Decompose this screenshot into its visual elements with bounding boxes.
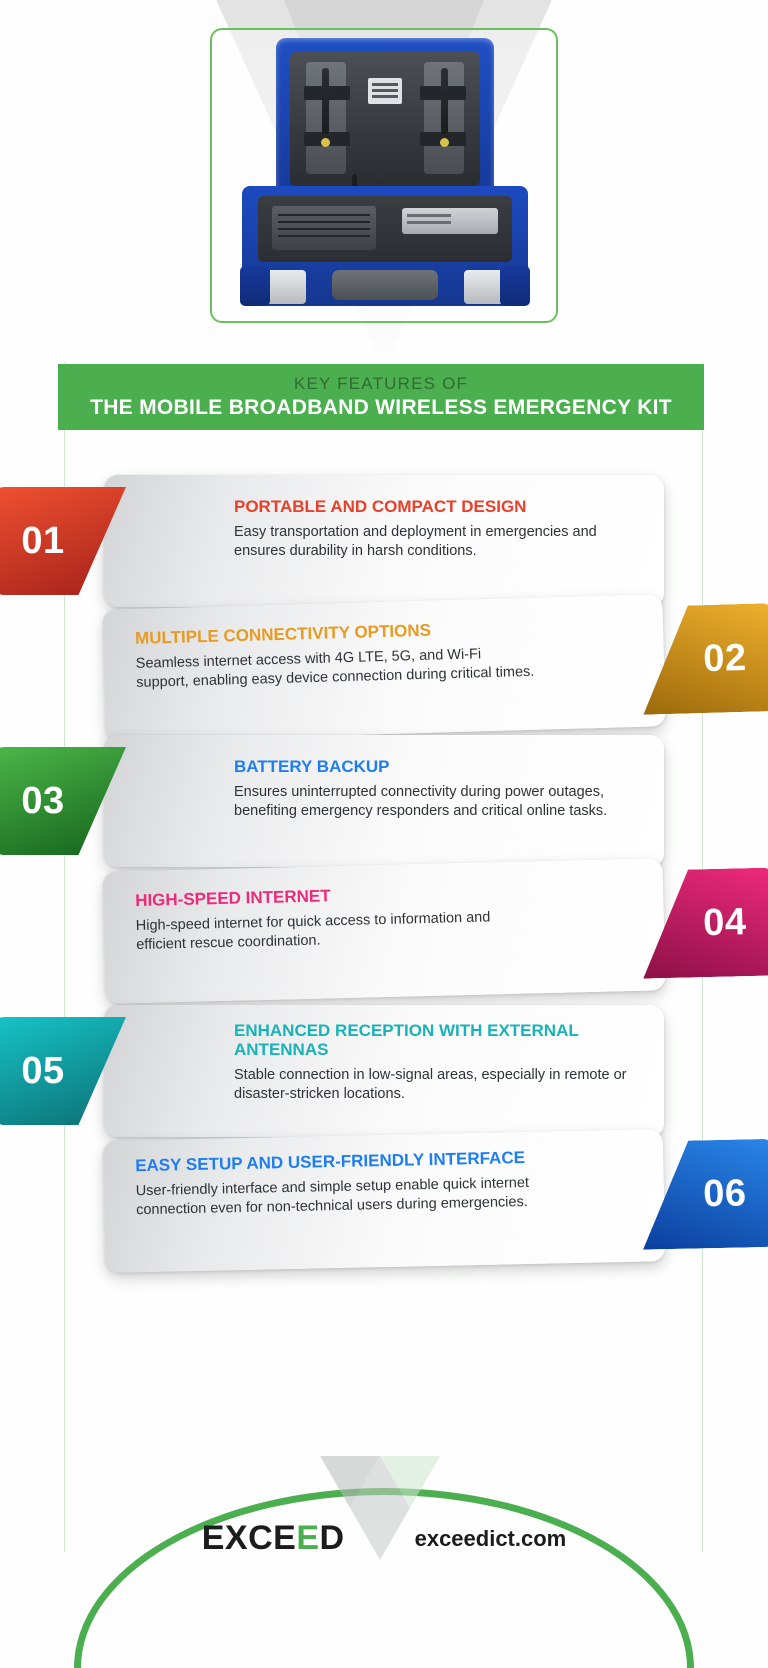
feature-title: PORTABLE AND COMPACT DESIGN bbox=[234, 497, 634, 516]
header-kicker: KEY FEATURES OF bbox=[294, 374, 468, 394]
header-banner: KEY FEATURES OF THE MOBILE BROADBAND WIR… bbox=[58, 364, 704, 430]
card-text: PORTABLE AND COMPACT DESIGN Easy transpo… bbox=[234, 497, 634, 561]
antenna-right bbox=[441, 68, 448, 134]
case-label-plate bbox=[368, 78, 402, 104]
feature-list: 01 PORTABLE AND COMPACT DESIGN Easy tran… bbox=[0, 430, 768, 1360]
case-body bbox=[242, 186, 528, 306]
card-text: BATTERY BACKUP Ensures uninterrupted con… bbox=[234, 757, 634, 821]
hero-product-image bbox=[210, 28, 558, 323]
case-lid-interior bbox=[290, 52, 480, 186]
feature-card-05[interactable]: 05 ENHANCED RECEPTION WITH EXTERNAL ANTE… bbox=[104, 1005, 664, 1137]
feature-card-01[interactable]: 01 PORTABLE AND COMPACT DESIGN Easy tran… bbox=[104, 475, 664, 607]
case-corner-left bbox=[240, 266, 270, 306]
equipment-case-illustration bbox=[224, 36, 544, 316]
page-title: THE MOBILE BROADBAND WIRELESS EMERGENCY … bbox=[90, 396, 672, 420]
x-watermark-icon bbox=[320, 1456, 440, 1576]
card-text: HIGH-SPEED INTERNET High-speed internet … bbox=[135, 881, 536, 955]
footer: EXCEED exceedict.com bbox=[0, 1368, 768, 1668]
logo-part-main: EXCE bbox=[202, 1519, 297, 1557]
feature-body: Ensures uninterrupted connectivity durin… bbox=[234, 783, 634, 821]
case-corner-right bbox=[500, 266, 530, 306]
case-lid bbox=[276, 38, 494, 196]
card-text: ENHANCED RECEPTION WITH EXTERNAL ANTENNA… bbox=[234, 1021, 634, 1104]
feature-body: Easy transportation and deployment in em… bbox=[234, 523, 634, 561]
footer-row: EXCEED exceedict.com bbox=[0, 1519, 768, 1558]
case-body-interior bbox=[258, 196, 512, 262]
brand-logo[interactable]: EXCEED bbox=[202, 1519, 345, 1558]
card-text: EASY SETUP AND USER-FRIENDLY INTERFACE U… bbox=[135, 1148, 536, 1221]
website-url[interactable]: exceedict.com bbox=[415, 1526, 567, 1552]
control-panel-unit bbox=[402, 208, 498, 234]
feature-title: BATTERY BACKUP bbox=[234, 757, 634, 776]
radio-unit bbox=[272, 206, 376, 250]
feature-card-02[interactable]: 02 MULTIPLE CONNECTIVITY OPTIONS Seamles… bbox=[102, 594, 665, 742]
infographic-page: KEY FEATURES OF THE MOBILE BROADBAND WIR… bbox=[0, 0, 768, 1668]
antenna-left bbox=[322, 68, 329, 134]
feature-title: ENHANCED RECEPTION WITH EXTERNAL ANTENNA… bbox=[234, 1021, 634, 1059]
logo-part-accent: E bbox=[296, 1519, 319, 1557]
feature-card-03[interactable]: 03 BATTERY BACKUP Ensures uninterrupted … bbox=[104, 735, 664, 867]
feature-card-04[interactable]: 04 HIGH-SPEED INTERNET High-speed intern… bbox=[102, 858, 665, 1004]
card-text: MULTIPLE CONNECTIVITY OPTIONS Seamless i… bbox=[135, 618, 537, 693]
case-handle bbox=[332, 270, 438, 300]
feature-body: Stable connection in low-signal areas, e… bbox=[234, 1066, 634, 1104]
feature-card-06[interactable]: 06 EASY SETUP AND USER-FRIENDLY INTERFAC… bbox=[103, 1129, 666, 1273]
antenna-tip-right bbox=[440, 138, 449, 147]
logo-part-tail: D bbox=[320, 1519, 345, 1557]
antenna-tip-left bbox=[321, 138, 330, 147]
